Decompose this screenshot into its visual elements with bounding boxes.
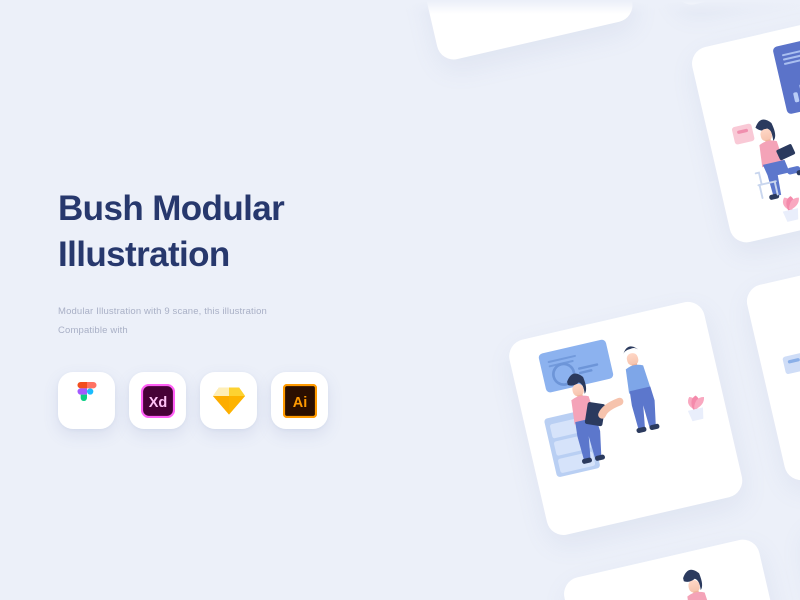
page-title-line-1: Bush Modular bbox=[58, 186, 388, 232]
illustration-card[interactable] bbox=[744, 244, 800, 484]
page-title: Bush Modular Illustration bbox=[58, 186, 388, 278]
page-root: Bush Modular Illustration Modular Illust… bbox=[0, 0, 800, 600]
adobe-illustrator-icon: Ai bbox=[283, 384, 317, 418]
page-subtitle-line-1: Modular Illustration with 9 scane, this … bbox=[58, 303, 388, 322]
illustration-card[interactable] bbox=[689, 6, 800, 246]
card-artwork bbox=[506, 299, 746, 539]
page-subtitle: Modular Illustration with 9 scane, this … bbox=[58, 303, 388, 340]
illustration-card[interactable] bbox=[634, 0, 800, 8]
illustration-card[interactable] bbox=[396, 0, 636, 63]
card-artwork bbox=[634, 0, 800, 8]
card-artwork bbox=[561, 536, 800, 600]
card-artwork bbox=[396, 0, 636, 63]
app-tile-figma[interactable] bbox=[58, 372, 115, 429]
illustration-card[interactable] bbox=[506, 299, 746, 539]
illustration-card[interactable] bbox=[561, 536, 800, 600]
card-artwork bbox=[689, 6, 800, 246]
compatible-apps-row: Xd bbox=[58, 372, 388, 429]
adobe-xd-icon: Xd bbox=[141, 384, 175, 418]
svg-text:Xd: Xd bbox=[148, 395, 167, 411]
figma-icon bbox=[74, 382, 100, 420]
page-title-line-2: Illustration bbox=[58, 232, 388, 278]
svg-text:Ai: Ai bbox=[292, 395, 307, 411]
sketch-icon bbox=[212, 385, 246, 416]
app-tile-adobe-illustrator[interactable]: Ai bbox=[271, 372, 328, 429]
rotated-card-grid bbox=[396, 0, 800, 600]
app-tile-sketch[interactable] bbox=[200, 372, 257, 429]
card-artwork bbox=[744, 244, 800, 484]
hero-panel: Bush Modular Illustration Modular Illust… bbox=[58, 186, 388, 429]
page-subtitle-line-2: Compatible with bbox=[58, 322, 388, 341]
app-tile-adobe-xd[interactable]: Xd bbox=[129, 372, 186, 429]
